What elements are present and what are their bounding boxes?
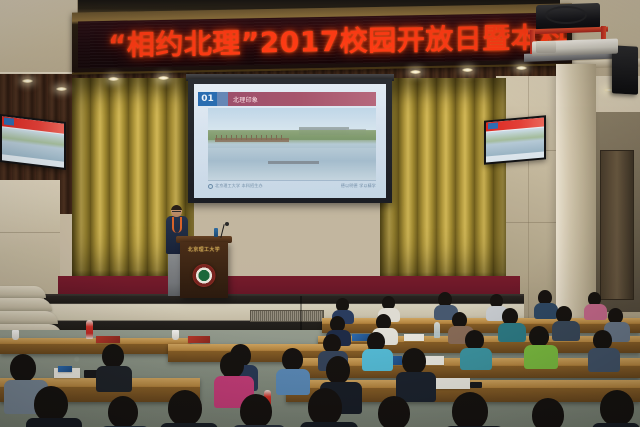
desk-front-panel bbox=[322, 324, 640, 333]
water-bottle bbox=[434, 322, 440, 338]
pen bbox=[470, 382, 482, 388]
stage-vent-grille bbox=[250, 310, 324, 322]
person-head bbox=[10, 354, 36, 382]
brochure bbox=[188, 336, 210, 343]
ceiling-downlight bbox=[158, 76, 169, 80]
person-torso bbox=[498, 323, 526, 342]
university-logo-icon bbox=[208, 184, 213, 189]
person-head bbox=[282, 348, 303, 371]
person-head bbox=[326, 356, 350, 384]
desk-row bbox=[322, 318, 640, 333]
projector-lens bbox=[536, 41, 556, 53]
slide-footer-left-text: 北京理工大学 本科招生办 bbox=[215, 183, 263, 189]
slide-footer-right-text: 德以明德 学以精学 bbox=[341, 183, 376, 189]
person-torso bbox=[276, 369, 310, 395]
paper-cup bbox=[172, 330, 179, 340]
ceiling-downlight bbox=[108, 77, 119, 81]
person-torso bbox=[592, 423, 640, 427]
handout-paper bbox=[436, 378, 470, 389]
person-torso bbox=[588, 348, 620, 372]
person-head bbox=[600, 390, 634, 426]
person-head bbox=[240, 394, 272, 427]
person-torso bbox=[534, 303, 558, 319]
ceiling-downlight bbox=[516, 66, 527, 70]
desk-front-panel bbox=[0, 344, 190, 354]
person-torso bbox=[460, 348, 492, 370]
monitor-slide-photo bbox=[486, 127, 544, 157]
podium-water-bottle bbox=[214, 228, 218, 237]
person-torso bbox=[524, 345, 558, 369]
person-head bbox=[34, 386, 68, 422]
slide-campus-photo bbox=[208, 108, 376, 180]
podium-institution-name: 北京理工大学 bbox=[180, 246, 228, 253]
slide-section-title: 北理印象 bbox=[233, 95, 258, 104]
person-head bbox=[102, 344, 124, 368]
slide-photo-walkway bbox=[215, 138, 289, 142]
person-head bbox=[593, 330, 612, 350]
marble-seam bbox=[528, 76, 529, 336]
handout-paper bbox=[404, 334, 424, 341]
person-head bbox=[402, 348, 426, 374]
podium: 北京理工大学 bbox=[180, 242, 228, 298]
notebook-cover bbox=[58, 366, 72, 372]
stage-step bbox=[0, 311, 58, 324]
slide-photo-dock bbox=[268, 161, 318, 164]
person-head bbox=[168, 390, 202, 426]
person-torso bbox=[160, 423, 218, 427]
side-monitor-left bbox=[0, 114, 66, 170]
person-head bbox=[108, 396, 138, 427]
person-torso bbox=[26, 418, 82, 427]
projection-screen-surface: 01 北理印象 北京理工大学 本科招生办 德以明德 学以精学 bbox=[194, 84, 386, 198]
person-head bbox=[465, 330, 484, 350]
slide-photo-sky bbox=[208, 108, 376, 131]
led-banner: “相约北理”2017校园开放日暨本科招生咨询会 bbox=[72, 3, 572, 74]
desk-surface bbox=[0, 338, 190, 343]
slide-footer: 北京理工大学 本科招生办 德以明德 学以精学 bbox=[208, 180, 376, 191]
slide-section-number: 01 bbox=[198, 92, 217, 106]
marble-seam bbox=[0, 232, 60, 233]
person-head bbox=[452, 392, 488, 427]
ceiling-downlight bbox=[462, 68, 473, 72]
presenter-lanyard bbox=[172, 217, 182, 233]
led-banner-panel: “相约北理”2017校园开放日暨本科招生咨询会 bbox=[78, 13, 567, 69]
led-banner-text: “相约北理”2017校园开放日暨本科招生咨询会 bbox=[108, 13, 567, 64]
side-monitor-right-screen bbox=[486, 117, 544, 162]
ceiling-downlight bbox=[22, 79, 33, 83]
monitor-slide-badge bbox=[4, 118, 14, 126]
ceiling-downlight bbox=[410, 70, 421, 74]
person-head bbox=[529, 326, 549, 347]
projection-screen: 01 北理印象 北京理工大学 本科招生办 德以明德 学以精学 bbox=[188, 79, 392, 203]
slide-header: 01 北理印象 bbox=[208, 92, 376, 106]
desk-row bbox=[0, 338, 190, 354]
person-head bbox=[532, 398, 564, 427]
projector-cable-coil bbox=[545, 6, 587, 24]
side-monitor-left-screen bbox=[2, 116, 64, 168]
slide-footer-left: 北京理工大学 本科招生办 bbox=[208, 183, 263, 189]
side-door bbox=[600, 150, 634, 300]
person-torso bbox=[552, 321, 580, 341]
person-head bbox=[308, 388, 342, 426]
brochure bbox=[96, 336, 120, 343]
paper-cup bbox=[12, 330, 19, 340]
slide-section-number-accent bbox=[217, 92, 228, 106]
side-monitor-right bbox=[484, 115, 546, 164]
ceiling-downlight bbox=[56, 87, 67, 91]
upper-wall-left bbox=[0, 0, 78, 80]
person-torso bbox=[584, 304, 607, 320]
person-head bbox=[378, 396, 410, 427]
podium-microphone bbox=[225, 222, 229, 226]
beverage-bottle bbox=[86, 320, 93, 339]
stage-step bbox=[0, 298, 52, 311]
presenter-glasses bbox=[172, 211, 181, 213]
person-torso bbox=[300, 422, 358, 427]
stage-curtain-right bbox=[380, 78, 506, 288]
university-emblem-icon bbox=[193, 264, 216, 287]
person-head bbox=[220, 352, 244, 378]
stage-step bbox=[0, 286, 46, 298]
person-torso bbox=[96, 366, 132, 392]
monitor-slide-badge bbox=[488, 123, 497, 130]
person-torso bbox=[362, 349, 393, 371]
auditorium-photo: “相约北理”2017校园开放日暨本科招生咨询会 bbox=[0, 0, 640, 427]
